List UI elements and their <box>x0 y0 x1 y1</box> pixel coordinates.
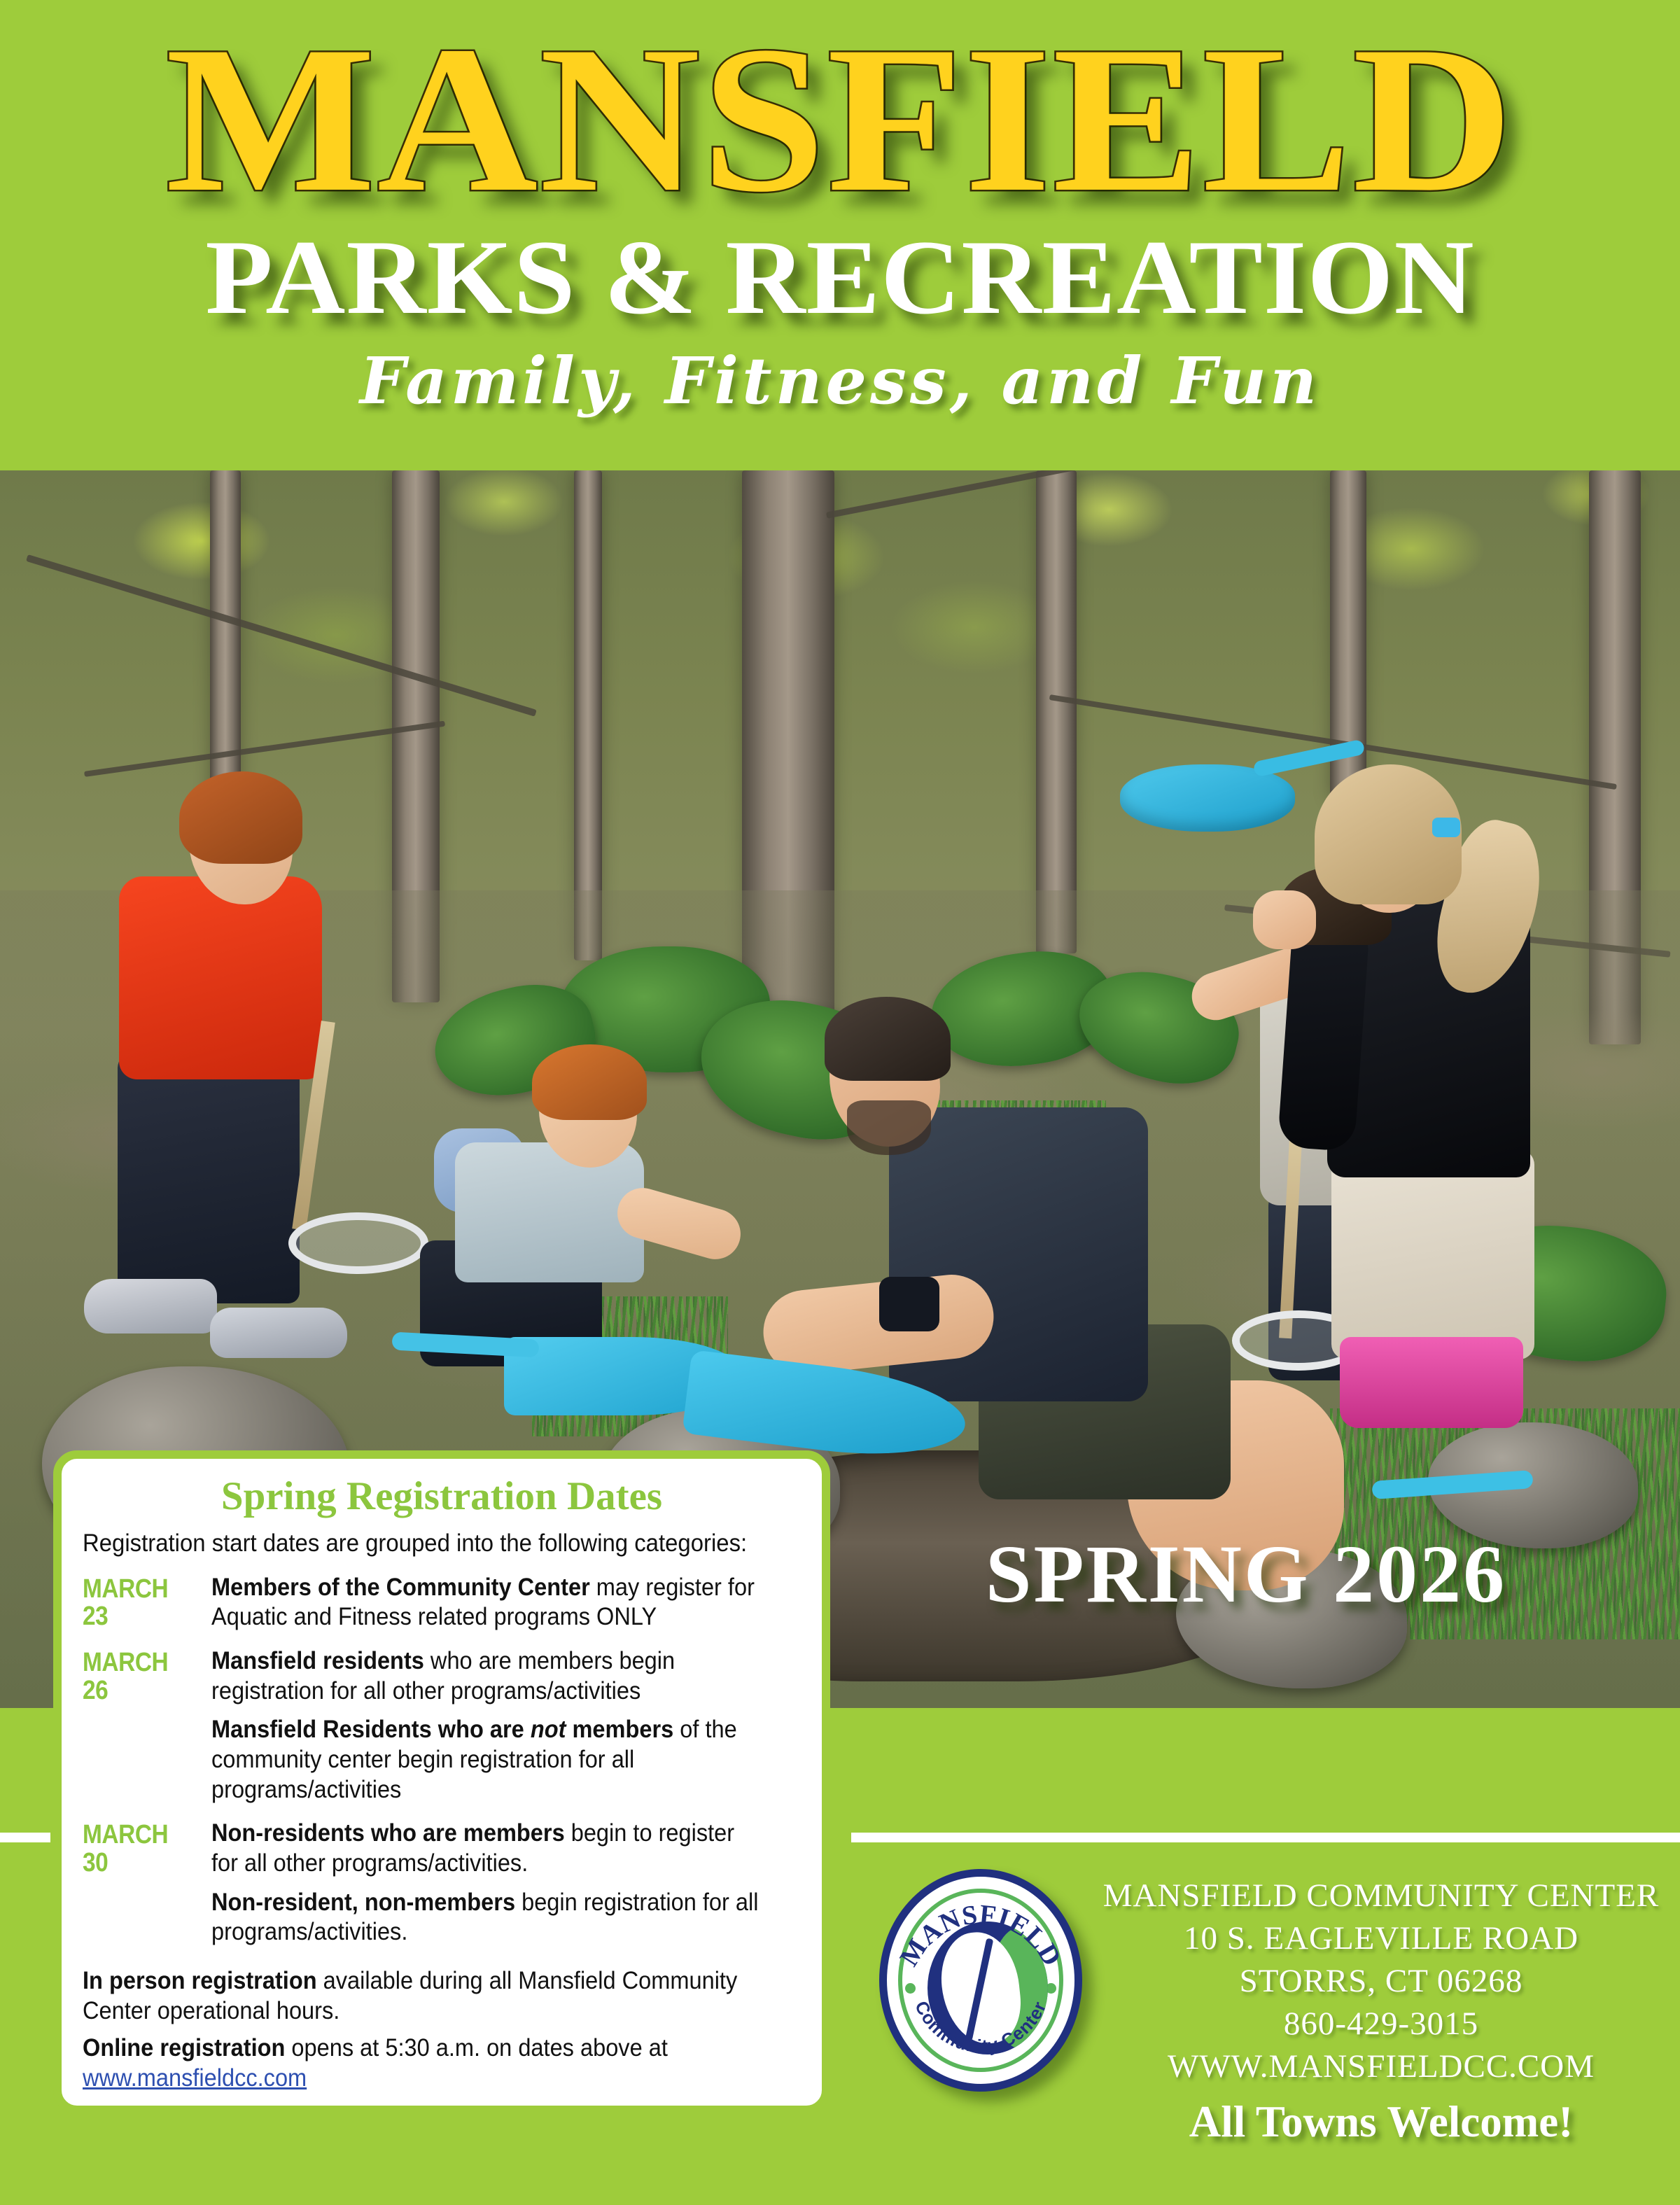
child-blonde-hand <box>1253 890 1316 949</box>
contact-line-city: STORRS, CT 06268 <box>1082 1960 1680 2003</box>
registration-dates-card: Spring Registration Dates Registration s… <box>53 1450 830 2114</box>
child-orange-shirt <box>119 876 322 1079</box>
contact-line-street: 10 S. EAGLEVILLE ROAD <box>1082 1917 1680 1960</box>
contact-line-phone: 860-429-3015 <box>1082 2003 1680 2045</box>
registration-detail: Non-resident, non-members begin registra… <box>211 1888 759 1947</box>
registration-row: MARCH 26 Mansfield residents who are mem… <box>83 1646 801 1805</box>
registration-detail-italic: not <box>531 1716 566 1743</box>
child-orange-hair <box>179 771 302 864</box>
registration-detail-bold: Non-residents who are members <box>211 1819 565 1847</box>
child-blonde-pants <box>1331 1149 1534 1359</box>
registration-row: MARCH 30 Non-residents who are members b… <box>83 1819 801 1947</box>
registration-detail: Mansfield residents who are members begi… <box>211 1646 759 1706</box>
mansfield-community-center-logo: MANSFIELD Community Center <box>879 1869 1082 2092</box>
season-heading: SPRING 2026 <box>861 1533 1631 1616</box>
child-orange-shoe <box>210 1308 347 1358</box>
header-banner: MANSFIELD PARKS & RECREATION Family, Fit… <box>0 0 1680 461</box>
registration-row: MARCH 23 Members of the Community Center… <box>83 1573 801 1632</box>
registration-detail: Non-residents who are members begin to r… <box>211 1819 759 1878</box>
registration-intro-text: Registration start dates are grouped int… <box>83 1529 757 1559</box>
contact-info: MANSFIELD COMMUNITY CENTER 10 S. EAGLEVI… <box>1082 1875 1680 2147</box>
brand-title: MANSFIELD <box>0 14 1680 224</box>
brand-subtitle: PARKS & RECREATION <box>0 224 1680 330</box>
dip-net <box>288 1212 428 1274</box>
toddler-shirt <box>455 1142 644 1282</box>
child-blonde-arm <box>1277 916 1371 1152</box>
tree-trunk <box>1036 470 1077 953</box>
registration-detail-bold: Mansfield residents <box>211 1647 424 1674</box>
svg-text:Community Center: Community Center <box>911 1998 1051 2057</box>
hair-tie <box>1432 818 1460 837</box>
online-registration-bold: Online registration <box>83 2034 285 2061</box>
registration-detail: Mansfield Residents who are not members … <box>211 1715 759 1805</box>
registration-date-label: MARCH 30 <box>83 1819 196 1947</box>
online-registration-rest: opens at 5:30 a.m. on dates above at <box>285 2034 668 2061</box>
registration-row-body: Members of the Community Center may regi… <box>211 1573 801 1632</box>
toddler-hair <box>532 1044 647 1120</box>
registration-detail-bold: Non-resident, non-members <box>211 1889 515 1916</box>
svg-text:MANSFIELD: MANSFIELD <box>894 1899 1067 1971</box>
online-registration-note: Online registration opens at 5:30 a.m. o… <box>83 2033 750 2063</box>
in-person-registration-bold: In person registration <box>83 1967 317 1994</box>
brand-tagline: Family, Fitness, and Fun <box>0 349 1680 413</box>
all-towns-welcome-text: All Towns Welcome! <box>1082 2098 1680 2146</box>
child-blonde-boots <box>1340 1337 1523 1428</box>
registration-website-link[interactable]: www.mansfieldcc.com <box>83 2063 307 2093</box>
registration-detail-bold: Mansfield Residents who are <box>211 1716 531 1743</box>
tree-trunk <box>574 470 602 960</box>
logo-arc-text: MANSFIELD Community Center <box>887 1877 1074 2084</box>
adult-watch <box>879 1277 939 1331</box>
registration-detail-bold: Members of the Community Center <box>211 1574 590 1601</box>
registration-row-body: Non-residents who are members begin to r… <box>211 1819 801 1947</box>
divider-line-right <box>851 1833 1680 1842</box>
divider-line-left <box>0 1833 50 1842</box>
registration-date-label: MARCH 23 <box>83 1573 196 1632</box>
registration-card-title: Spring Registration Dates <box>83 1474 801 1519</box>
adult-beard <box>847 1100 931 1155</box>
registration-footer-notes: In person registration available during … <box>83 1966 801 2094</box>
contact-line-name: MANSFIELD COMMUNITY CENTER <box>1082 1875 1680 1917</box>
adult-hair <box>825 997 951 1081</box>
registration-detail: Members of the Community Center may regi… <box>211 1573 759 1632</box>
registration-row-body: Mansfield residents who are members begi… <box>211 1646 801 1805</box>
registration-detail-bold2: members <box>566 1716 673 1743</box>
contact-line-website: WWW.MANSFIELDCC.COM <box>1082 2045 1680 2088</box>
footer-contact-block: MANSFIELD Community Center MANSFIELD COM… <box>851 1862 1680 2156</box>
child-orange-shoe <box>84 1279 217 1333</box>
registration-date-label: MARCH 26 <box>83 1646 196 1805</box>
child-orange-legs <box>118 1051 300 1303</box>
in-person-registration-note: In person registration available during … <box>83 1966 750 2026</box>
